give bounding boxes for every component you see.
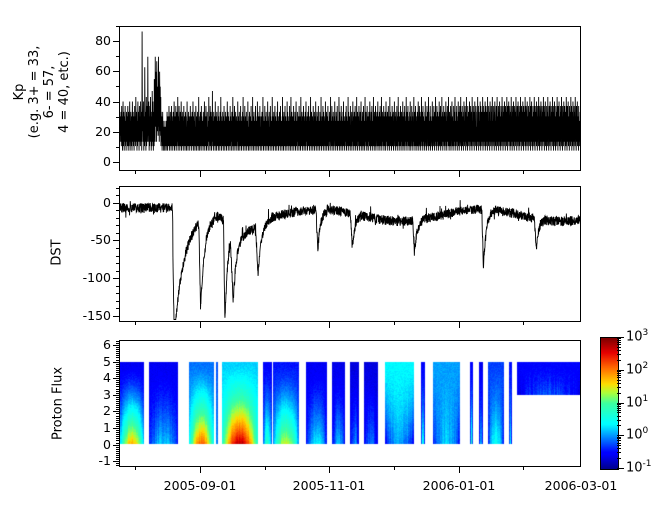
colorbar-tick-label: 102 xyxy=(626,361,648,377)
x-tick-major xyxy=(459,322,460,328)
y-tick-minor xyxy=(116,440,119,441)
y-tick-label: 2 xyxy=(57,403,111,418)
y-tick-minor xyxy=(116,395,119,396)
y-tick-minor xyxy=(116,445,119,446)
y-tick-minor xyxy=(116,463,119,464)
x-tick-minor xyxy=(523,171,524,174)
y-tick-minor xyxy=(116,218,119,219)
y-tick-minor xyxy=(116,376,119,377)
colorbar-tick-minor xyxy=(617,443,621,444)
y-tick-label: 5 xyxy=(57,354,111,369)
y-tick-minor xyxy=(116,117,119,118)
y-tick-label: -1 xyxy=(57,453,111,468)
y-tick-minor xyxy=(116,413,119,414)
colorbar-tick-minor xyxy=(617,440,621,441)
y-tick-label: -150 xyxy=(57,308,111,323)
colorbar-tick-label: 101 xyxy=(626,394,648,410)
x-tick-minor xyxy=(135,171,136,174)
y-tick-minor xyxy=(116,411,119,412)
x-tick-label: 2005-11-01 xyxy=(279,478,379,493)
colorbar-tick-minor xyxy=(617,383,621,384)
colorbar-tick-minor xyxy=(617,458,621,459)
y-tick-minor xyxy=(116,368,119,369)
y-tick-minor xyxy=(116,102,119,103)
colorbar-tick-minor xyxy=(617,338,621,339)
colorbar-tick-minor xyxy=(617,375,621,376)
figure-canvas: Kp (e.g. 3+ = 33, 6- = 57, 4 = 40, etc.)… xyxy=(0,0,665,523)
x-tick-major xyxy=(459,467,460,473)
y-tick-minor xyxy=(116,418,119,419)
colorbar-tick-minor xyxy=(617,393,621,394)
colorbar-tick-minor xyxy=(617,406,621,407)
y-tick-label: 0 xyxy=(57,195,111,210)
y-tick-minor xyxy=(116,422,119,423)
colorbar-tick-minor xyxy=(617,344,621,345)
y-tick-minor xyxy=(116,428,119,429)
y-tick-label: 40 xyxy=(57,94,111,109)
y-tick-minor xyxy=(116,308,119,309)
y-tick-minor xyxy=(116,465,119,466)
y-tick-minor xyxy=(116,372,119,373)
y-tick-minor xyxy=(116,278,119,279)
colorbar-tick-minor xyxy=(617,425,621,426)
y-tick-minor xyxy=(116,434,119,435)
colorbar-tick-major xyxy=(617,435,624,436)
y-tick-minor xyxy=(116,147,119,148)
y-tick-minor xyxy=(116,263,119,264)
colorbar-tick-minor xyxy=(617,360,621,361)
colorbar-tick-label: 103 xyxy=(626,328,648,344)
y-tick-minor xyxy=(116,407,119,408)
y-tick-minor xyxy=(116,248,119,249)
kp-trace-svg xyxy=(120,27,580,170)
y-tick-minor xyxy=(116,293,119,294)
y-tick-minor xyxy=(116,357,119,358)
y-tick-minor xyxy=(116,132,119,133)
colorbar-tick-minor xyxy=(617,354,621,355)
y-tick-minor xyxy=(116,351,119,352)
x-tick-minor xyxy=(265,322,266,325)
y-tick-minor xyxy=(116,443,119,444)
y-tick-minor xyxy=(116,355,119,356)
y-tick-minor xyxy=(116,420,119,421)
y-tick-minor xyxy=(116,416,119,417)
y-tick-minor xyxy=(116,457,119,458)
colorbar-tick-minor xyxy=(617,404,621,405)
kp-axis-label-line-1: Kp xyxy=(12,37,27,147)
y-tick-minor xyxy=(116,451,119,452)
colorbar-tick-major xyxy=(617,468,624,469)
y-tick-minor xyxy=(116,453,119,454)
y-tick-label: -100 xyxy=(57,270,111,285)
y-tick-label: 3 xyxy=(57,387,111,402)
y-tick-minor xyxy=(116,341,119,342)
y-tick-minor xyxy=(116,393,119,394)
y-tick-minor xyxy=(116,391,119,392)
y-tick-label: 0 xyxy=(57,154,111,169)
x-tick-minor xyxy=(265,467,266,470)
y-tick-minor xyxy=(116,203,119,204)
y-tick-minor xyxy=(116,286,119,287)
y-tick-label: 60 xyxy=(57,63,111,78)
y-tick-minor xyxy=(116,366,119,367)
x-tick-label: 2006-03-01 xyxy=(531,478,631,493)
colorbar-tick-minor xyxy=(617,387,621,388)
y-tick-minor xyxy=(116,382,119,383)
y-tick-minor xyxy=(116,409,119,410)
x-tick-minor xyxy=(394,467,395,470)
colorbar-tick-minor xyxy=(617,452,621,453)
y-tick-minor xyxy=(116,432,119,433)
y-tick-minor xyxy=(116,233,119,234)
kp-trace xyxy=(120,31,580,150)
y-tick-minor xyxy=(116,240,119,241)
y-tick-label: 6 xyxy=(57,337,111,352)
colorbar-tick-minor xyxy=(617,412,621,413)
x-tick-minor xyxy=(265,171,266,174)
y-tick-label: 4 xyxy=(57,370,111,385)
y-tick-label: -50 xyxy=(57,232,111,247)
colorbar-tick-minor xyxy=(617,371,621,372)
x-tick-minor xyxy=(394,322,395,325)
y-tick-minor xyxy=(116,353,119,354)
x-tick-major xyxy=(200,467,201,473)
colorbar-tick-minor xyxy=(617,350,621,351)
x-tick-minor xyxy=(523,467,524,470)
colorbar-tick-minor xyxy=(617,340,621,341)
colorbar-tick-minor xyxy=(617,380,621,381)
y-tick-minor xyxy=(116,86,119,87)
y-tick-minor xyxy=(116,345,119,346)
y-tick-minor xyxy=(116,364,119,365)
y-tick-minor xyxy=(116,188,119,189)
y-tick-minor xyxy=(116,360,119,361)
colorbar-tick-minor xyxy=(617,373,621,374)
y-tick-minor xyxy=(116,343,119,344)
x-tick-label: 2006-01-01 xyxy=(409,478,509,493)
y-tick-minor xyxy=(116,71,119,72)
y-tick-minor xyxy=(116,449,119,450)
y-tick-minor xyxy=(116,438,119,439)
y-tick-minor xyxy=(116,436,119,437)
y-tick-minor xyxy=(116,195,119,196)
colorbar-tick-minor xyxy=(617,408,621,409)
y-tick-minor xyxy=(116,26,119,27)
colorbar-tick-minor xyxy=(617,410,621,411)
y-tick-minor xyxy=(116,316,119,317)
x-tick-major xyxy=(459,171,460,177)
y-tick-label: 1 xyxy=(57,420,111,435)
kp-axis-label-line-2: (e.g. 3+ = 33, xyxy=(27,37,42,147)
y-tick-minor xyxy=(116,386,119,387)
y-tick-minor xyxy=(116,374,119,375)
y-tick-minor xyxy=(116,405,119,406)
x-tick-major xyxy=(200,322,201,328)
y-tick-label: 80 xyxy=(57,33,111,48)
y-tick-minor xyxy=(116,447,119,448)
y-tick-minor xyxy=(116,426,119,427)
colorbar-tick-label: 10-1 xyxy=(626,459,652,475)
y-tick-minor xyxy=(116,389,119,390)
kp-axis-label-line-3: 6- = 57, xyxy=(42,37,57,147)
x-tick-major xyxy=(200,171,201,177)
x-tick-minor xyxy=(523,322,524,325)
y-tick-minor xyxy=(116,370,119,371)
colorbar-tick-minor xyxy=(617,416,621,417)
y-tick-minor xyxy=(116,461,119,462)
x-tick-label: 2005-09-01 xyxy=(150,478,250,493)
y-tick-minor xyxy=(116,347,119,348)
y-tick-minor xyxy=(116,397,119,398)
y-tick-minor xyxy=(116,56,119,57)
y-tick-minor xyxy=(116,378,119,379)
colorbar-tick-label: 100 xyxy=(626,426,648,442)
y-tick-minor xyxy=(116,162,119,163)
colorbar-tick-minor xyxy=(617,420,621,421)
y-tick-minor xyxy=(116,459,119,460)
colorbar-tick-minor xyxy=(617,448,621,449)
y-tick-minor xyxy=(116,403,119,404)
y-tick-minor xyxy=(116,271,119,272)
y-tick-minor xyxy=(116,399,119,400)
colorbar-tick-minor xyxy=(617,438,621,439)
x-tick-minor xyxy=(394,171,395,174)
colorbar-tick-minor xyxy=(617,342,621,343)
y-tick-minor xyxy=(116,384,119,385)
y-tick-minor xyxy=(116,401,119,402)
colorbar-tick-minor xyxy=(617,347,621,348)
y-tick-minor xyxy=(116,430,119,431)
x-tick-major xyxy=(329,467,330,473)
x-tick-minor xyxy=(135,467,136,470)
y-tick-minor xyxy=(116,380,119,381)
dst-trace xyxy=(120,200,580,319)
y-tick-minor xyxy=(116,301,119,302)
colorbar-tick-minor xyxy=(617,437,621,438)
y-tick-minor xyxy=(116,424,119,425)
colorbar-tick-minor xyxy=(617,377,621,378)
y-tick-label: 0 xyxy=(57,437,111,452)
x-tick-major xyxy=(329,322,330,328)
x-tick-minor xyxy=(135,322,136,325)
y-tick-minor xyxy=(116,362,119,363)
y-tick-minor xyxy=(116,41,119,42)
y-tick-minor xyxy=(116,225,119,226)
colorbar-tick-minor xyxy=(617,445,621,446)
y-tick-label: 20 xyxy=(57,124,111,139)
dst-trace-svg xyxy=(120,187,580,321)
y-tick-minor xyxy=(116,349,119,350)
y-tick-minor xyxy=(116,455,119,456)
y-tick-minor xyxy=(116,256,119,257)
x-tick-major xyxy=(329,171,330,177)
y-tick-minor xyxy=(116,210,119,211)
proton-flux-spectrogram xyxy=(120,341,580,466)
